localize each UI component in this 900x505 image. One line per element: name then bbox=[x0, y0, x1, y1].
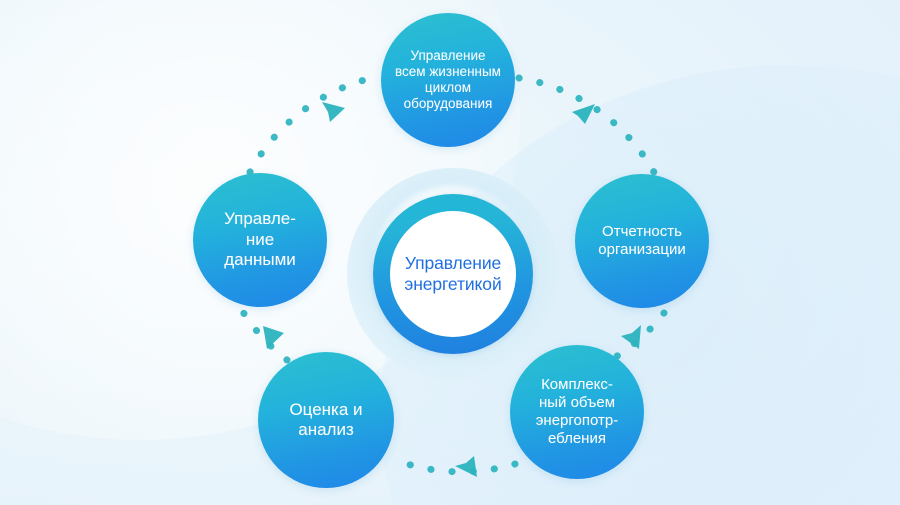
node-data[interactable]: Управле- ние данными bbox=[193, 173, 327, 307]
node-lifecycle[interactable]: Управление всем жизненным циклом оборудо… bbox=[381, 13, 515, 147]
node-assessment[interactable]: Оценка и анализ bbox=[258, 352, 394, 488]
node-assessment-label: Оценка и анализ bbox=[283, 400, 368, 441]
arrowhead-consumption-to-assessment bbox=[455, 456, 477, 477]
connector-data-to-lifecycle bbox=[250, 76, 381, 172]
node-data-label: Управле- ние данными bbox=[218, 209, 302, 270]
center-hub[interactable]: Управление энергетикой bbox=[347, 168, 559, 380]
hub-ring: Управление энергетикой bbox=[373, 194, 533, 354]
hub-label: Управление энергетикой bbox=[398, 253, 507, 296]
node-reporting-label: Отчетность организации bbox=[592, 223, 691, 259]
node-reporting[interactable]: Отчетность организации bbox=[575, 174, 709, 308]
node-consumption-label: Комплекс- ный объем энергопотр- ебления bbox=[530, 376, 624, 448]
arrowhead-lifecycle-to-reporting bbox=[572, 104, 595, 124]
arrowhead-reporting-to-consumption bbox=[621, 325, 641, 349]
node-consumption[interactable]: Комплекс- ный объем энергопотр- ебления bbox=[510, 345, 644, 479]
arrowhead-data-to-lifecycle bbox=[322, 102, 345, 122]
energy-management-cycle-diagram: .dot-path { fill: none; stroke: #2bb3bf;… bbox=[0, 0, 900, 505]
node-lifecycle-label: Управление всем жизненным циклом оборудо… bbox=[389, 48, 507, 113]
hub-inner-disc: Управление энергетикой bbox=[390, 211, 516, 337]
connector-lifecycle-to-reporting bbox=[519, 78, 655, 174]
